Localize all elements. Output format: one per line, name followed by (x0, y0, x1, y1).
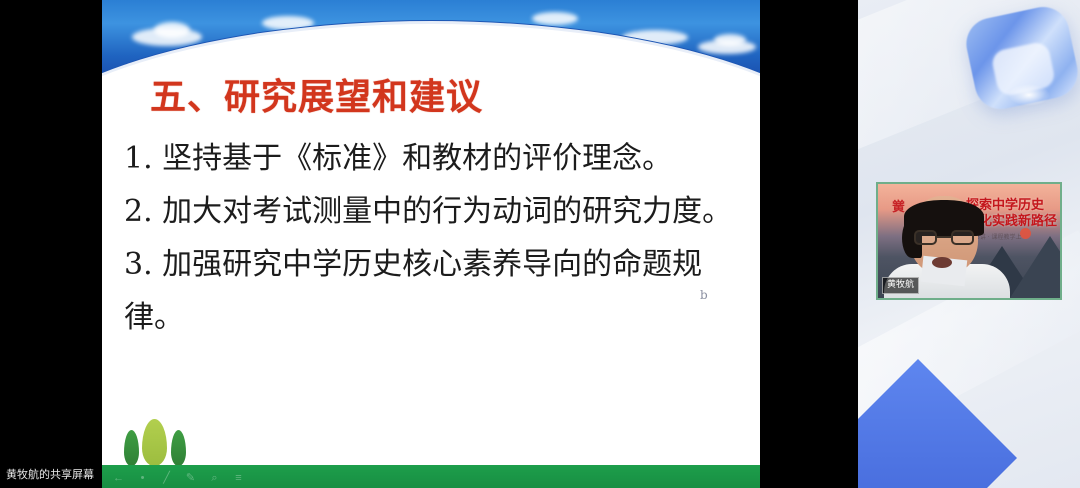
participant-name-tag: 黄牧航 (882, 277, 919, 294)
slide-bullet-3: 3. 加强研究中学历史核心素养导向的命题规律。 (124, 238, 752, 344)
slide-body: 1. 坚持基于《标准》和教材的评价理念。 2. 加大对考试测量中的行为动词的研究… (124, 132, 752, 344)
text-cursor-artifact: b (700, 288, 708, 302)
zoom-meeting-screen: 五、研究展望和建议 1. 坚持基于《标准》和教材的评价理念。 2. 加大对考试测… (0, 0, 1080, 488)
zoom-icon[interactable]: ⌕ (208, 472, 221, 485)
cloud-shape (154, 22, 190, 38)
mouth-shape (932, 257, 952, 268)
tree-decoration (122, 418, 192, 466)
slide-footer-bar: ← • ╱ ✎ ⌕ ≡ (102, 465, 760, 488)
cloud-shape (714, 34, 746, 46)
glasses-icon (914, 230, 974, 246)
blue-object-highlight (1008, 84, 1050, 106)
glasses-lens (951, 230, 974, 245)
slide-bullet-1: 1. 坚持基于《标准》和教材的评价理念。 (124, 132, 752, 185)
pen-tool-icon[interactable]: ╱ (160, 472, 173, 485)
cloud-shape (532, 12, 578, 25)
leaf-icon (142, 419, 167, 466)
participant-video-tile[interactable]: 黉 探索中学历史 本化实践新路径 第3讲 · 课程教学上 黄牧航 (876, 182, 1062, 300)
screen-share-label: 黄牧航的共享屏幕 (6, 468, 94, 482)
highlighter-icon[interactable]: ✎ (184, 472, 197, 485)
leaf-icon (124, 430, 139, 466)
participant-panel: 黉 探索中学历史 本化实践新路径 第3讲 · 课程教学上 黄牧航 (858, 0, 1080, 488)
leaf-icon (171, 430, 186, 466)
prev-slide-icon[interactable]: ← (112, 472, 125, 485)
slide-title: 五、研究展望和建议 (150, 68, 483, 120)
mountain-shape (1010, 236, 1062, 298)
glasses-bridge (937, 236, 951, 238)
glasses-lens (914, 230, 937, 245)
next-slide-icon[interactable]: • (136, 472, 149, 485)
slide-bullet-2: 2. 加大对考试测量中的行为动词的研究力度。 (124, 185, 752, 238)
slide-sky-banner (102, 0, 760, 78)
presentation-toolbar[interactable]: ← • ╱ ✎ ⌕ ≡ (112, 472, 245, 485)
shared-screen-slide[interactable]: 五、研究展望和建议 1. 坚持基于《标准》和教材的评价理念。 2. 加大对考试测… (102, 0, 760, 488)
menu-icon[interactable]: ≡ (232, 472, 245, 485)
